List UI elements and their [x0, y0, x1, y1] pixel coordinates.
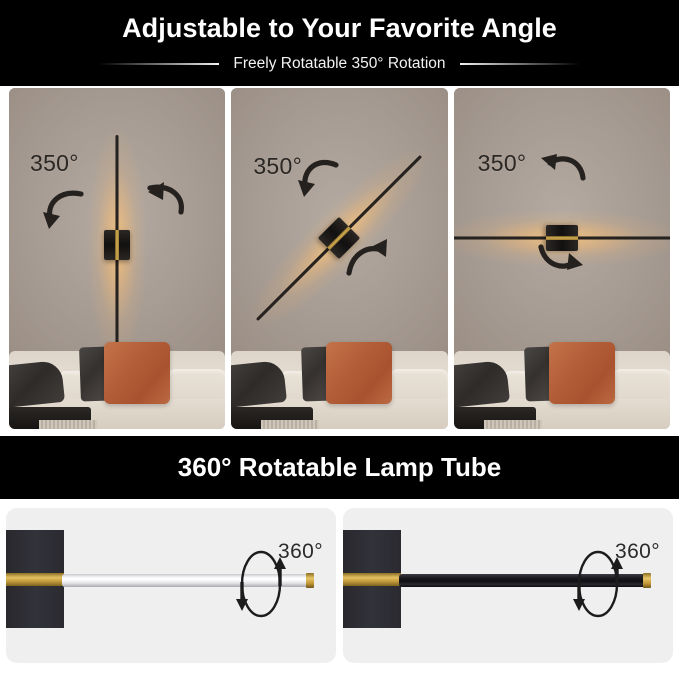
tube-panels-row: 360° 360° [0, 499, 679, 667]
tube-panel-white: 360° [6, 508, 336, 663]
floor-rug [261, 420, 319, 429]
page-title: Adjustable to Your Favorite Angle [122, 15, 557, 42]
mount-gold-stripe [343, 573, 401, 586]
subtitle-divider-right [460, 63, 580, 65]
degree-label: 350° [30, 150, 79, 177]
throw-pillow-rust [326, 342, 392, 404]
rotation-arrow-bottom-icon [537, 233, 585, 275]
rotation-arrow-right-icon [144, 180, 190, 228]
wall-mount-block [6, 530, 64, 628]
rotation-arrow-lower-icon [344, 233, 390, 281]
section-title: 360° Rotatable Lamp Tube [178, 452, 501, 483]
degree-label-360: 360° [615, 540, 660, 564]
sofa-scene [454, 324, 670, 429]
floor-rug [484, 420, 542, 429]
degree-label-360: 360° [278, 540, 323, 564]
tube-end-cap [643, 573, 651, 588]
tube-panel-black: 360° [343, 508, 673, 663]
rotation-arrow-upper-icon [296, 155, 342, 203]
rotation-arrow-left-icon [41, 186, 87, 234]
subtitle-divider-left [99, 63, 219, 65]
mount-gold-stripe [115, 230, 119, 260]
lamp-mount [104, 230, 130, 260]
throw-pillow-rust [549, 342, 615, 404]
rotation-arrow-top-icon [539, 152, 587, 194]
sofa-scene [9, 324, 225, 429]
wall-mount-block [343, 530, 401, 628]
header-banner: Adjustable to Your Favorite Angle Freely… [0, 0, 679, 86]
mount-gold-stripe [6, 573, 64, 586]
degree-label: 350° [253, 153, 302, 180]
angle-panels-row: 350° [0, 86, 679, 432]
degree-label: 350° [478, 150, 527, 177]
angle-panel-horizontal: 350° [454, 88, 670, 429]
angle-panel-vertical: 350° [9, 88, 225, 429]
subtitle-row: Freely Rotatable 350° Rotation [0, 55, 679, 73]
sofa-scene [231, 324, 447, 429]
angle-panel-diagonal: 350° [231, 88, 447, 429]
sofa-throw-blanket [9, 360, 65, 408]
page-subtitle: Freely Rotatable 350° Rotation [233, 55, 445, 73]
throw-pillow-rust [104, 342, 170, 404]
section-banner-360: 360° Rotatable Lamp Tube [0, 436, 679, 499]
sofa-throw-blanket [231, 360, 287, 408]
tube-end-cap [306, 573, 314, 588]
floor-rug [39, 420, 97, 429]
sofa-throw-blanket [454, 360, 510, 408]
